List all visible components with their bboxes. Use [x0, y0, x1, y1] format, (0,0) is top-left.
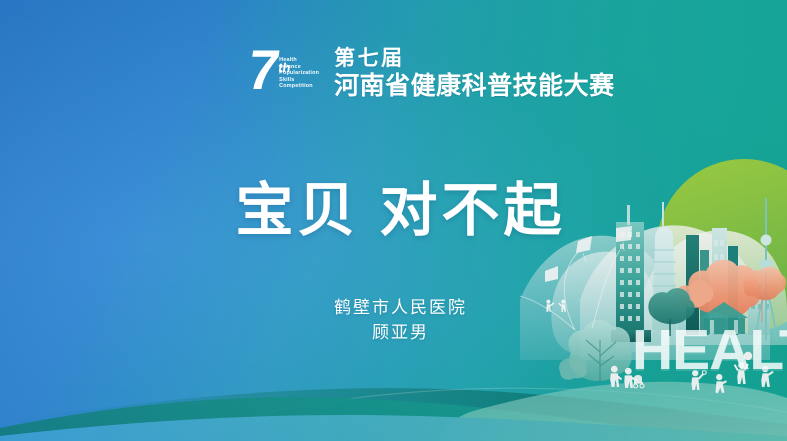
logo-english-subtitle: Health Science Popularization Skills Com… — [279, 57, 325, 90]
presenter-block: 鹤壁市人民医院 顾亚男 — [0, 296, 787, 345]
logo-chinese-line-2: 河南省健康科普技能大赛 — [334, 72, 615, 100]
presenter-name: 顾亚男 — [14, 321, 787, 345]
competition-logo: 7 th Health Science Popularization Skill… — [248, 46, 615, 100]
presenter-organization: 鹤壁市人民医院 — [14, 296, 787, 320]
logo-english-line-4: Skills — [279, 77, 325, 84]
page-title: 宝贝 对不起 — [0, 163, 787, 247]
logo-english-line-1: Health — [279, 57, 325, 64]
logo-english-line-3: Popularization — [279, 70, 325, 77]
logo-english-line-2: Science — [279, 64, 325, 71]
logo-ordinal-number-group: 7 th — [245, 46, 280, 94]
shrub-row — [559, 358, 587, 380]
logo-english-line-5: Competition — [279, 83, 325, 90]
logo-chinese-line-1: 第七届 — [334, 47, 615, 70]
logo-chinese-text: 第七届 河南省健康科普技能大赛 — [334, 47, 615, 100]
presentation-slide: HEALTH 7 th Health Science Popularizatio… — [0, 0, 787, 441]
